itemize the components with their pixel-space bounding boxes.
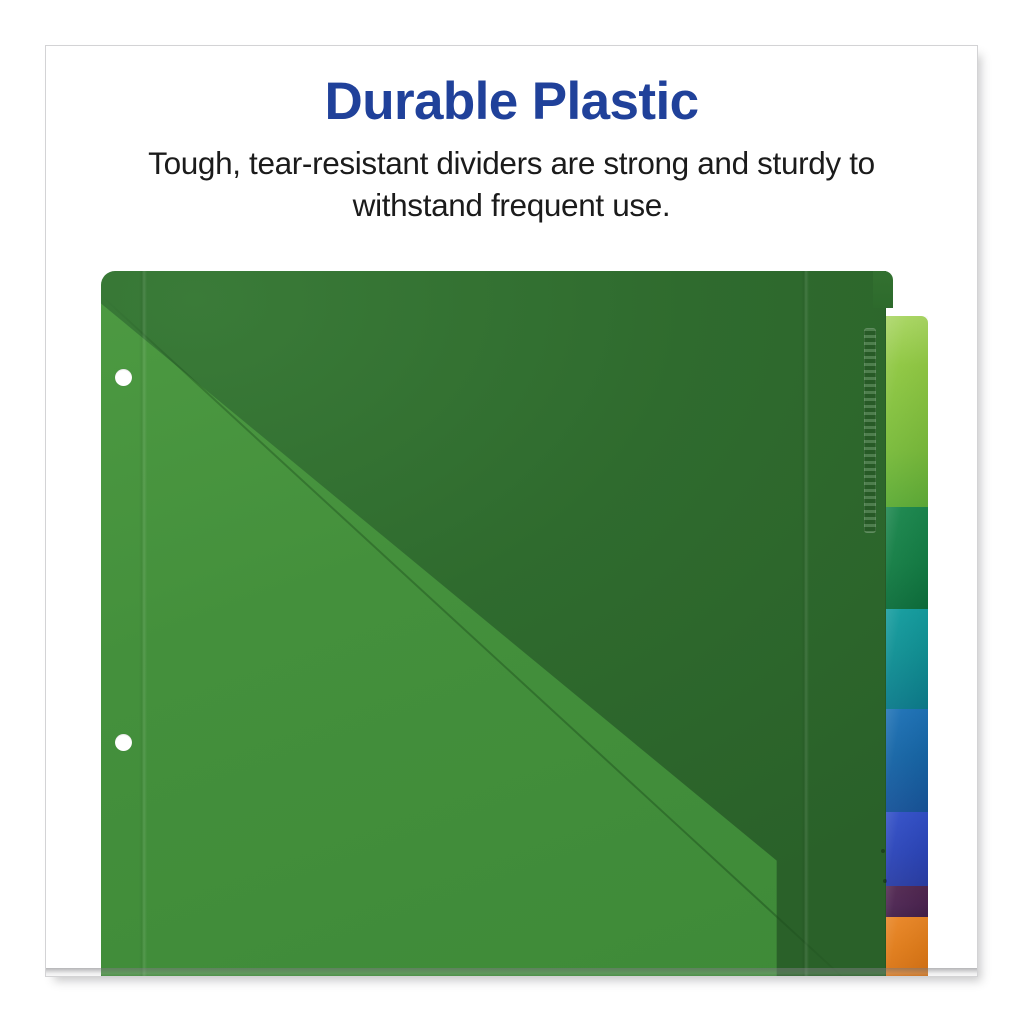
product-photo — [46, 46, 978, 977]
pocket-weld-dot-upper — [881, 849, 885, 853]
punch-hole-top — [115, 369, 132, 386]
divider-tab-shoulder — [873, 271, 893, 308]
pocket-weld-dot-lower — [883, 879, 887, 883]
image-card-frame: Durable Plastic Tough, tear-resistant di… — [45, 45, 978, 977]
reinforced-perforated-strip — [864, 328, 876, 533]
punch-hole-bottom — [115, 734, 132, 751]
divider-sheet — [101, 271, 938, 977]
product-feature-image: Durable Plastic Tough, tear-resistant di… — [0, 0, 1024, 1024]
